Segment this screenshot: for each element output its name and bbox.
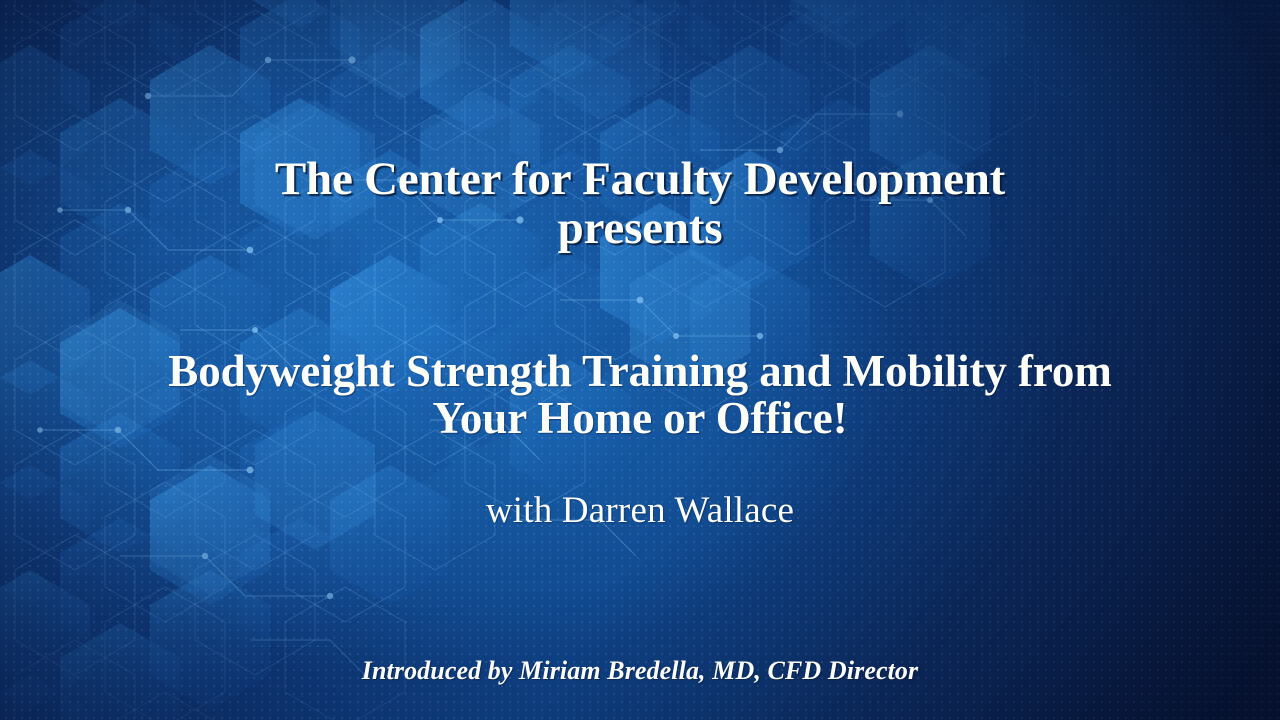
presents-title-line1: The Center for Faculty Development: [275, 153, 1005, 205]
main-title: Bodyweight Strength Training and Mobilit…: [0, 348, 1280, 442]
presents-title: The Center for Faculty Developmentpresen…: [0, 155, 1280, 253]
presenter-line: with Darren Wallace: [0, 492, 1280, 530]
introduced-by-line: Introduced by Miriam Bredella, MD, CFD D…: [0, 657, 1280, 684]
main-title-line2: Your Home or Office!: [0, 395, 1280, 442]
title-slide: The Center for Faculty Developmentpresen…: [0, 0, 1280, 720]
main-title-line1: Bodyweight Strength Training and Mobilit…: [168, 346, 1111, 396]
slide-content: The Center for Faculty Developmentpresen…: [0, 0, 1280, 720]
presents-title-line2: presents: [0, 204, 1280, 253]
